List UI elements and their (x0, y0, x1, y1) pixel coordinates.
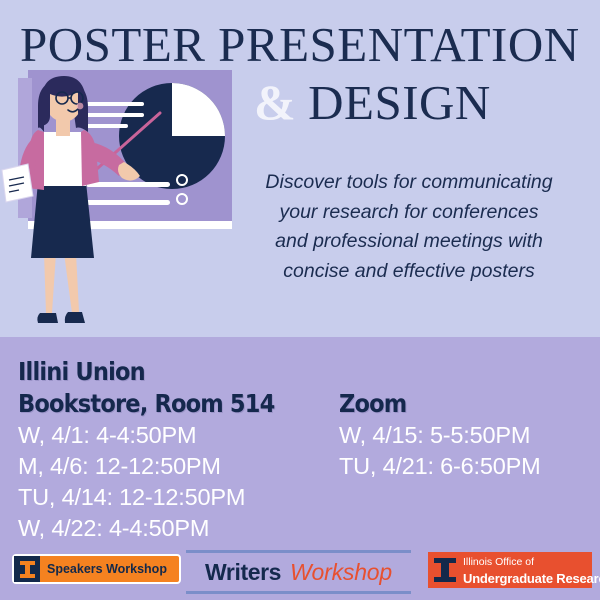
location-heading-line-2: Bookstore, Room 514 (18, 388, 306, 420)
location-heading-line-1: Illini Union (18, 356, 306, 388)
session-row: W, 4/22: 4-4:50PM (18, 513, 338, 544)
schedule-column-zoom: Zoom W, 4/15: 5-5:50PM TU, 4/21: 6-6:50P… (339, 388, 599, 482)
undergraduate-research-logo[interactable]: Illinois Office of Undergraduate Researc… (428, 552, 592, 588)
undergraduate-research-label: Undergraduate Research (463, 571, 600, 586)
session-row: W, 4/1: 4-4:50PM (18, 420, 338, 451)
session-row: M, 4/6: 12-12:50PM (18, 451, 338, 482)
description-line: and professional meetings with (228, 227, 590, 257)
page-title-design-word: DESIGN (308, 75, 491, 130)
speakers-workshop-logo[interactable]: Speakers Workshop (12, 554, 181, 584)
session-row: W, 4/15: 5-5:50PM (339, 420, 599, 451)
description-line: your research for conferences (228, 198, 590, 228)
description-text: Discover tools for communicating your re… (228, 168, 590, 286)
footer-logos: Speakers Workshop Writers Workshop Illin… (0, 548, 600, 600)
description-line: Discover tools for communicating (228, 168, 590, 198)
illinois-i-icon (14, 556, 40, 582)
location-heading-zoom: Zoom (339, 388, 573, 420)
page-title-line-2: &DESIGN (254, 74, 594, 131)
ampersand-glyph: & (254, 74, 308, 130)
poster-canvas: POSTER PRESENTATION &DESIGN (0, 0, 600, 600)
workshop-word: Workshop (290, 559, 392, 586)
writers-word: Writers (205, 559, 281, 586)
session-row: TU, 4/14: 12-12:50PM (18, 482, 338, 513)
office-label: Illinois Office of (463, 556, 534, 568)
session-row: TU, 4/21: 6-6:50PM (339, 451, 599, 482)
schedule-column-illini-union: Illini Union Bookstore, Room 514 W, 4/1:… (18, 356, 338, 544)
illinois-i-icon (434, 557, 456, 583)
page-title-line-1: POSTER PRESENTATION (20, 17, 590, 73)
writers-workshop-logo[interactable]: Writers Workshop (186, 550, 411, 594)
speakers-workshop-label: Speakers Workshop (47, 562, 167, 576)
description-line: concise and effective posters (228, 257, 590, 287)
presenter-illustration (0, 70, 232, 350)
